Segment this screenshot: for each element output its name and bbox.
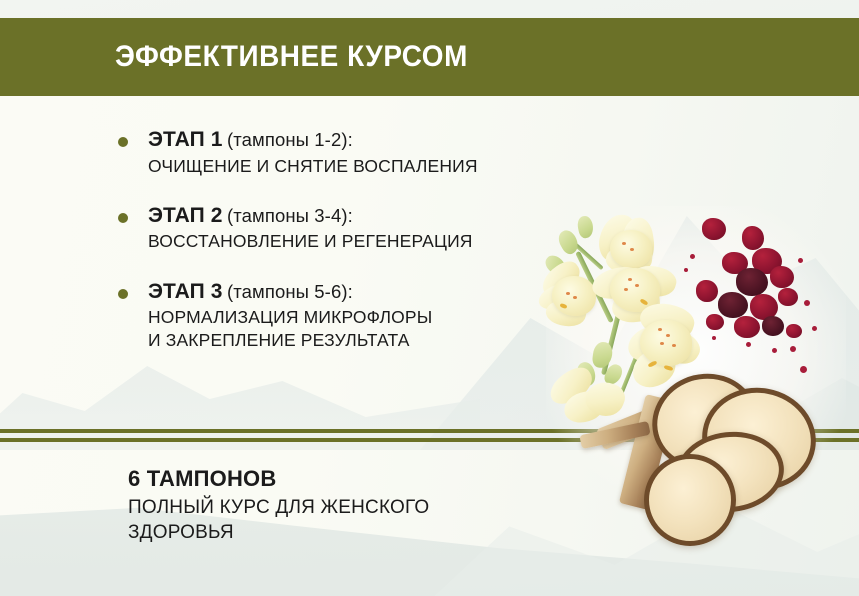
bullet-icon: [118, 137, 128, 147]
stage-quantity: (тампоны 5-6):: [227, 281, 353, 302]
petal-speck: [573, 296, 577, 299]
list-item: ЭТАП 3 (тампоны 5-6): НОРМАЛИЗАЦИЯ МИКРО…: [118, 280, 588, 351]
petal-speck: [658, 328, 662, 331]
stage-description: ОЧИЩЕНИЕ И СНЯТИЕ ВОСПАЛЕНИЯ: [148, 155, 588, 177]
list-item: ЭТАП 2 (тампоны 3-4): ВОССТАНОВЛЕНИЕ И Р…: [118, 204, 588, 253]
petal-speck: [635, 284, 639, 287]
petal-speck: [660, 342, 664, 345]
footer-title: 6 ТАМПОНОВ: [128, 466, 558, 492]
berry-crumb: [772, 348, 777, 353]
stage-heading: ЭТАП 1 (тампоны 1-2):: [148, 128, 588, 152]
stage-heading: ЭТАП 2 (тампоны 3-4):: [148, 204, 588, 228]
petal-speck: [628, 278, 632, 281]
dried-berry: [770, 266, 794, 288]
footer-subtitle: ПОЛНЫЙ КУРС ДЛЯ ЖЕНСКОГО ЗДОРОВЬЯ: [128, 496, 558, 545]
page-title: ЭФФЕКТИВНЕЕ КУРСОМ: [115, 40, 468, 74]
berry-crumb: [790, 346, 796, 352]
dried-berry: [702, 218, 726, 240]
petal-speck: [622, 242, 626, 245]
stage-list: ЭТАП 1 (тампоны 1-2): ОЧИЩЕНИЕ И СНЯТИЕ …: [118, 128, 588, 378]
dried-berry: [706, 314, 724, 330]
petal-speck: [672, 344, 676, 347]
stage-name: ЭТАП 3: [148, 280, 223, 303]
berry-crumb: [690, 254, 695, 259]
berry-crumb: [812, 326, 817, 331]
petal-speck: [630, 248, 634, 251]
stage-name: ЭТАП 1: [148, 128, 223, 151]
berry-crumb: [804, 300, 810, 306]
stage-heading: ЭТАП 3 (тампоны 5-6):: [148, 280, 588, 304]
dried-berry: [734, 316, 760, 338]
berry-crumb: [684, 268, 688, 272]
petal-speck: [566, 292, 570, 295]
bullet-icon: [118, 213, 128, 223]
dried-berry: [718, 292, 748, 318]
berry-crumb: [800, 366, 807, 373]
petal-speck: [624, 288, 628, 291]
dried-berry: [736, 268, 768, 296]
stage-quantity: (тампоны 3-4):: [227, 205, 353, 226]
dried-berry: [786, 324, 802, 338]
berry-crumb: [712, 336, 716, 340]
stage-quantity: (тампоны 1-2):: [227, 129, 353, 150]
botanical-photo: [536, 196, 859, 496]
slide-canvas: ЭФФЕКТИВНЕЕ КУРСОМ ЭТАП 1 (тампоны 1-2):…: [0, 0, 859, 596]
dried-berry: [696, 280, 718, 302]
petal-speck: [666, 334, 670, 337]
flower-bloom: [640, 320, 692, 366]
root-slice: [644, 454, 736, 546]
berry-crumb: [746, 342, 751, 347]
stage-description: НОРМАЛИЗАЦИЯ МИКРОФЛОРЫ И ЗАКРЕПЛЕНИЕ РЕ…: [148, 306, 588, 351]
dried-berry: [742, 226, 764, 250]
bullet-icon: [118, 289, 128, 299]
stage-name: ЭТАП 2: [148, 204, 223, 227]
stage-description: ВОССТАНОВЛЕНИЕ И РЕГЕНЕРАЦИЯ: [148, 230, 588, 252]
list-item: ЭТАП 1 (тампоны 1-2): ОЧИЩЕНИЕ И СНЯТИЕ …: [118, 128, 588, 177]
berry-crumb: [798, 258, 803, 263]
footer-block: 6 ТАМПОНОВ ПОЛНЫЙ КУРС ДЛЯ ЖЕНСКОГО ЗДОР…: [128, 466, 558, 546]
dried-berry: [762, 316, 784, 336]
dried-berry: [778, 288, 798, 306]
header-band: ЭФФЕКТИВНЕЕ КУРСОМ: [0, 18, 859, 96]
